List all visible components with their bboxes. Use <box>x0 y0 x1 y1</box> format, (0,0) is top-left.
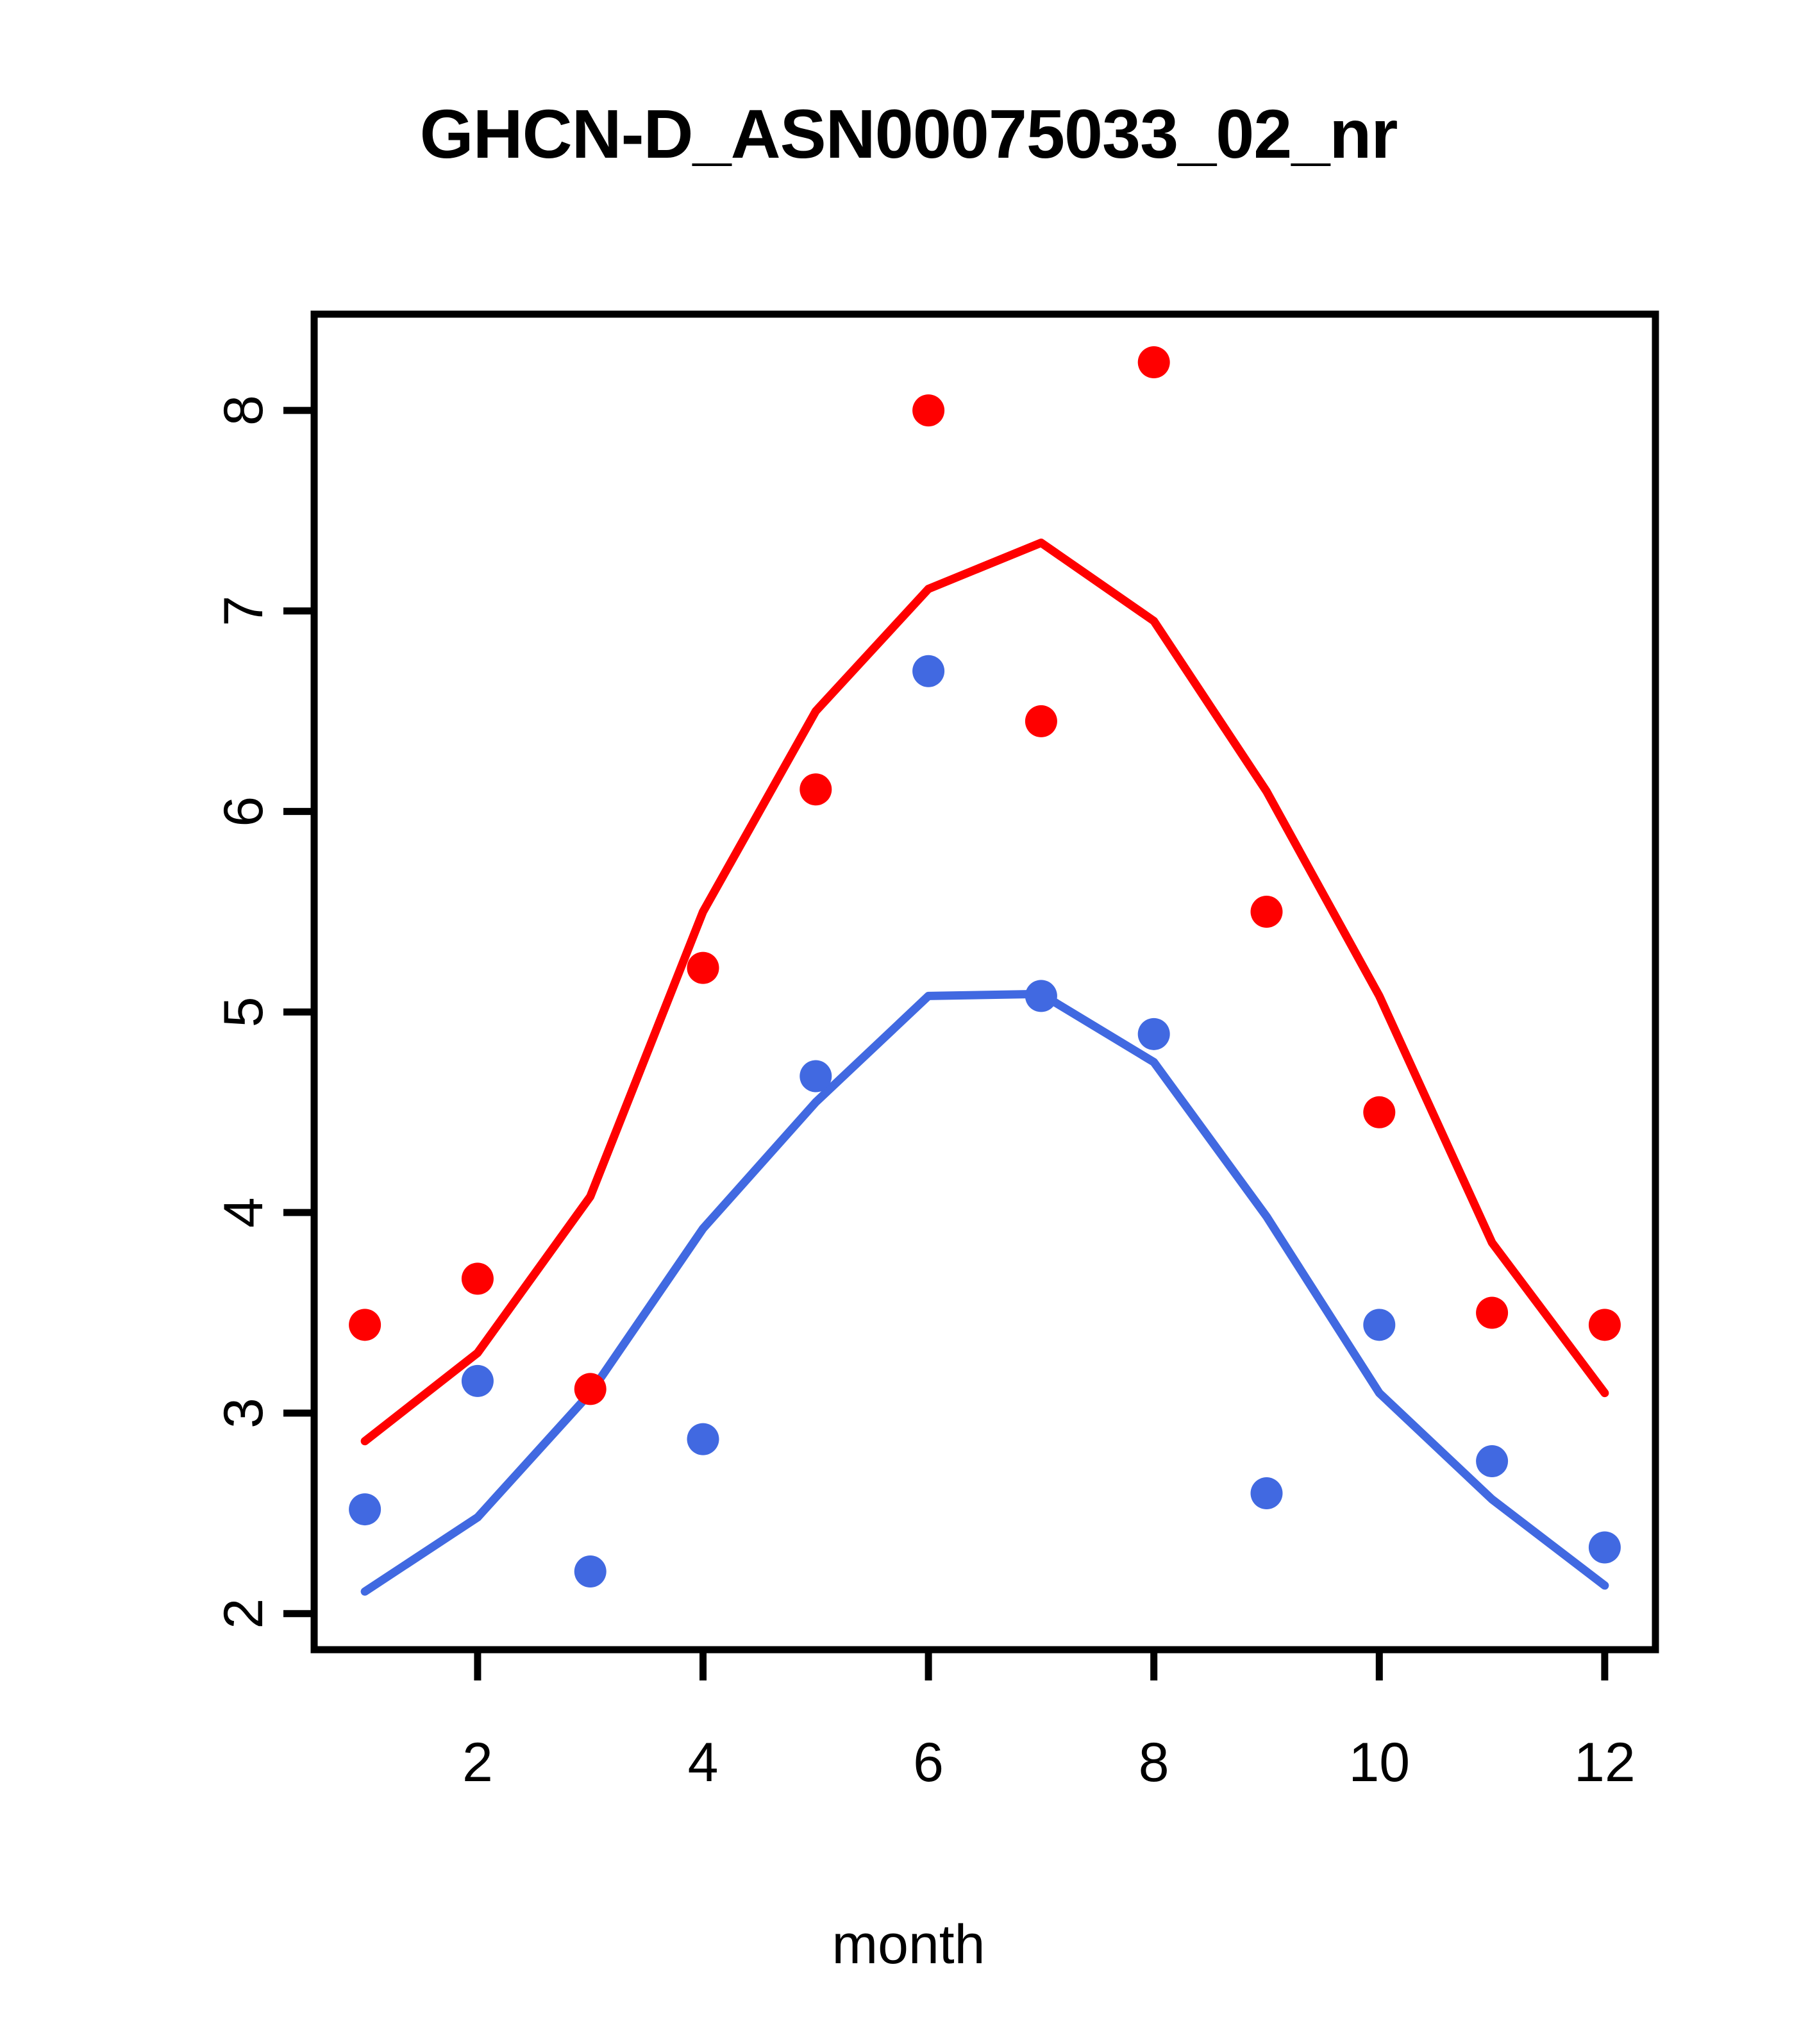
plot-frame <box>314 314 1655 1650</box>
y-tick-label: 8 <box>213 395 274 426</box>
data-point-blue-points <box>1025 980 1057 1012</box>
data-point-blue-points <box>687 1423 719 1455</box>
y-tick-label: 6 <box>213 796 274 827</box>
data-point-blue-points <box>800 1060 832 1093</box>
data-point-red-points <box>687 952 719 984</box>
x-tick-label: 12 <box>1574 1732 1636 1793</box>
chart-page: GHCN-D_ASN00075033_02_nr 234567824681012… <box>0 0 1817 2044</box>
data-point-red-points <box>1025 705 1057 737</box>
data-point-blue-points <box>1589 1531 1621 1563</box>
data-point-blue-points <box>462 1365 494 1397</box>
data-point-blue-points <box>574 1555 607 1587</box>
plot-area: 234567824681012 <box>0 0 1817 2044</box>
data-point-red-points <box>800 773 832 805</box>
data-point-red-points <box>349 1309 381 1341</box>
data-point-red-points <box>574 1373 607 1405</box>
y-tick-label: 5 <box>213 996 274 1027</box>
data-point-red-points <box>1589 1309 1621 1341</box>
y-tick-label: 3 <box>213 1398 274 1428</box>
data-point-blue-points <box>1138 1018 1170 1050</box>
x-axis-label: month <box>0 1917 1817 1972</box>
data-point-red-points <box>1251 896 1283 928</box>
data-point-blue-points <box>1363 1309 1395 1341</box>
data-point-red-points <box>1138 346 1170 378</box>
y-tick-label: 2 <box>213 1598 274 1629</box>
y-tick-label: 4 <box>213 1197 274 1228</box>
data-point-red-points <box>1476 1297 1508 1329</box>
y-tick-label: 7 <box>213 596 274 626</box>
data-point-red-points <box>462 1262 494 1294</box>
data-point-red-points <box>1363 1096 1395 1128</box>
data-point-blue-points <box>912 655 944 687</box>
data-point-blue-points <box>349 1493 381 1525</box>
data-point-red-points <box>912 394 944 426</box>
x-tick-label: 10 <box>1348 1732 1410 1793</box>
x-tick-label: 6 <box>913 1732 944 1793</box>
x-tick-label: 2 <box>462 1732 493 1793</box>
data-point-blue-points <box>1251 1477 1283 1509</box>
x-tick-label: 4 <box>688 1732 719 1793</box>
data-point-blue-points <box>1476 1445 1508 1477</box>
x-tick-label: 8 <box>1139 1732 1169 1793</box>
